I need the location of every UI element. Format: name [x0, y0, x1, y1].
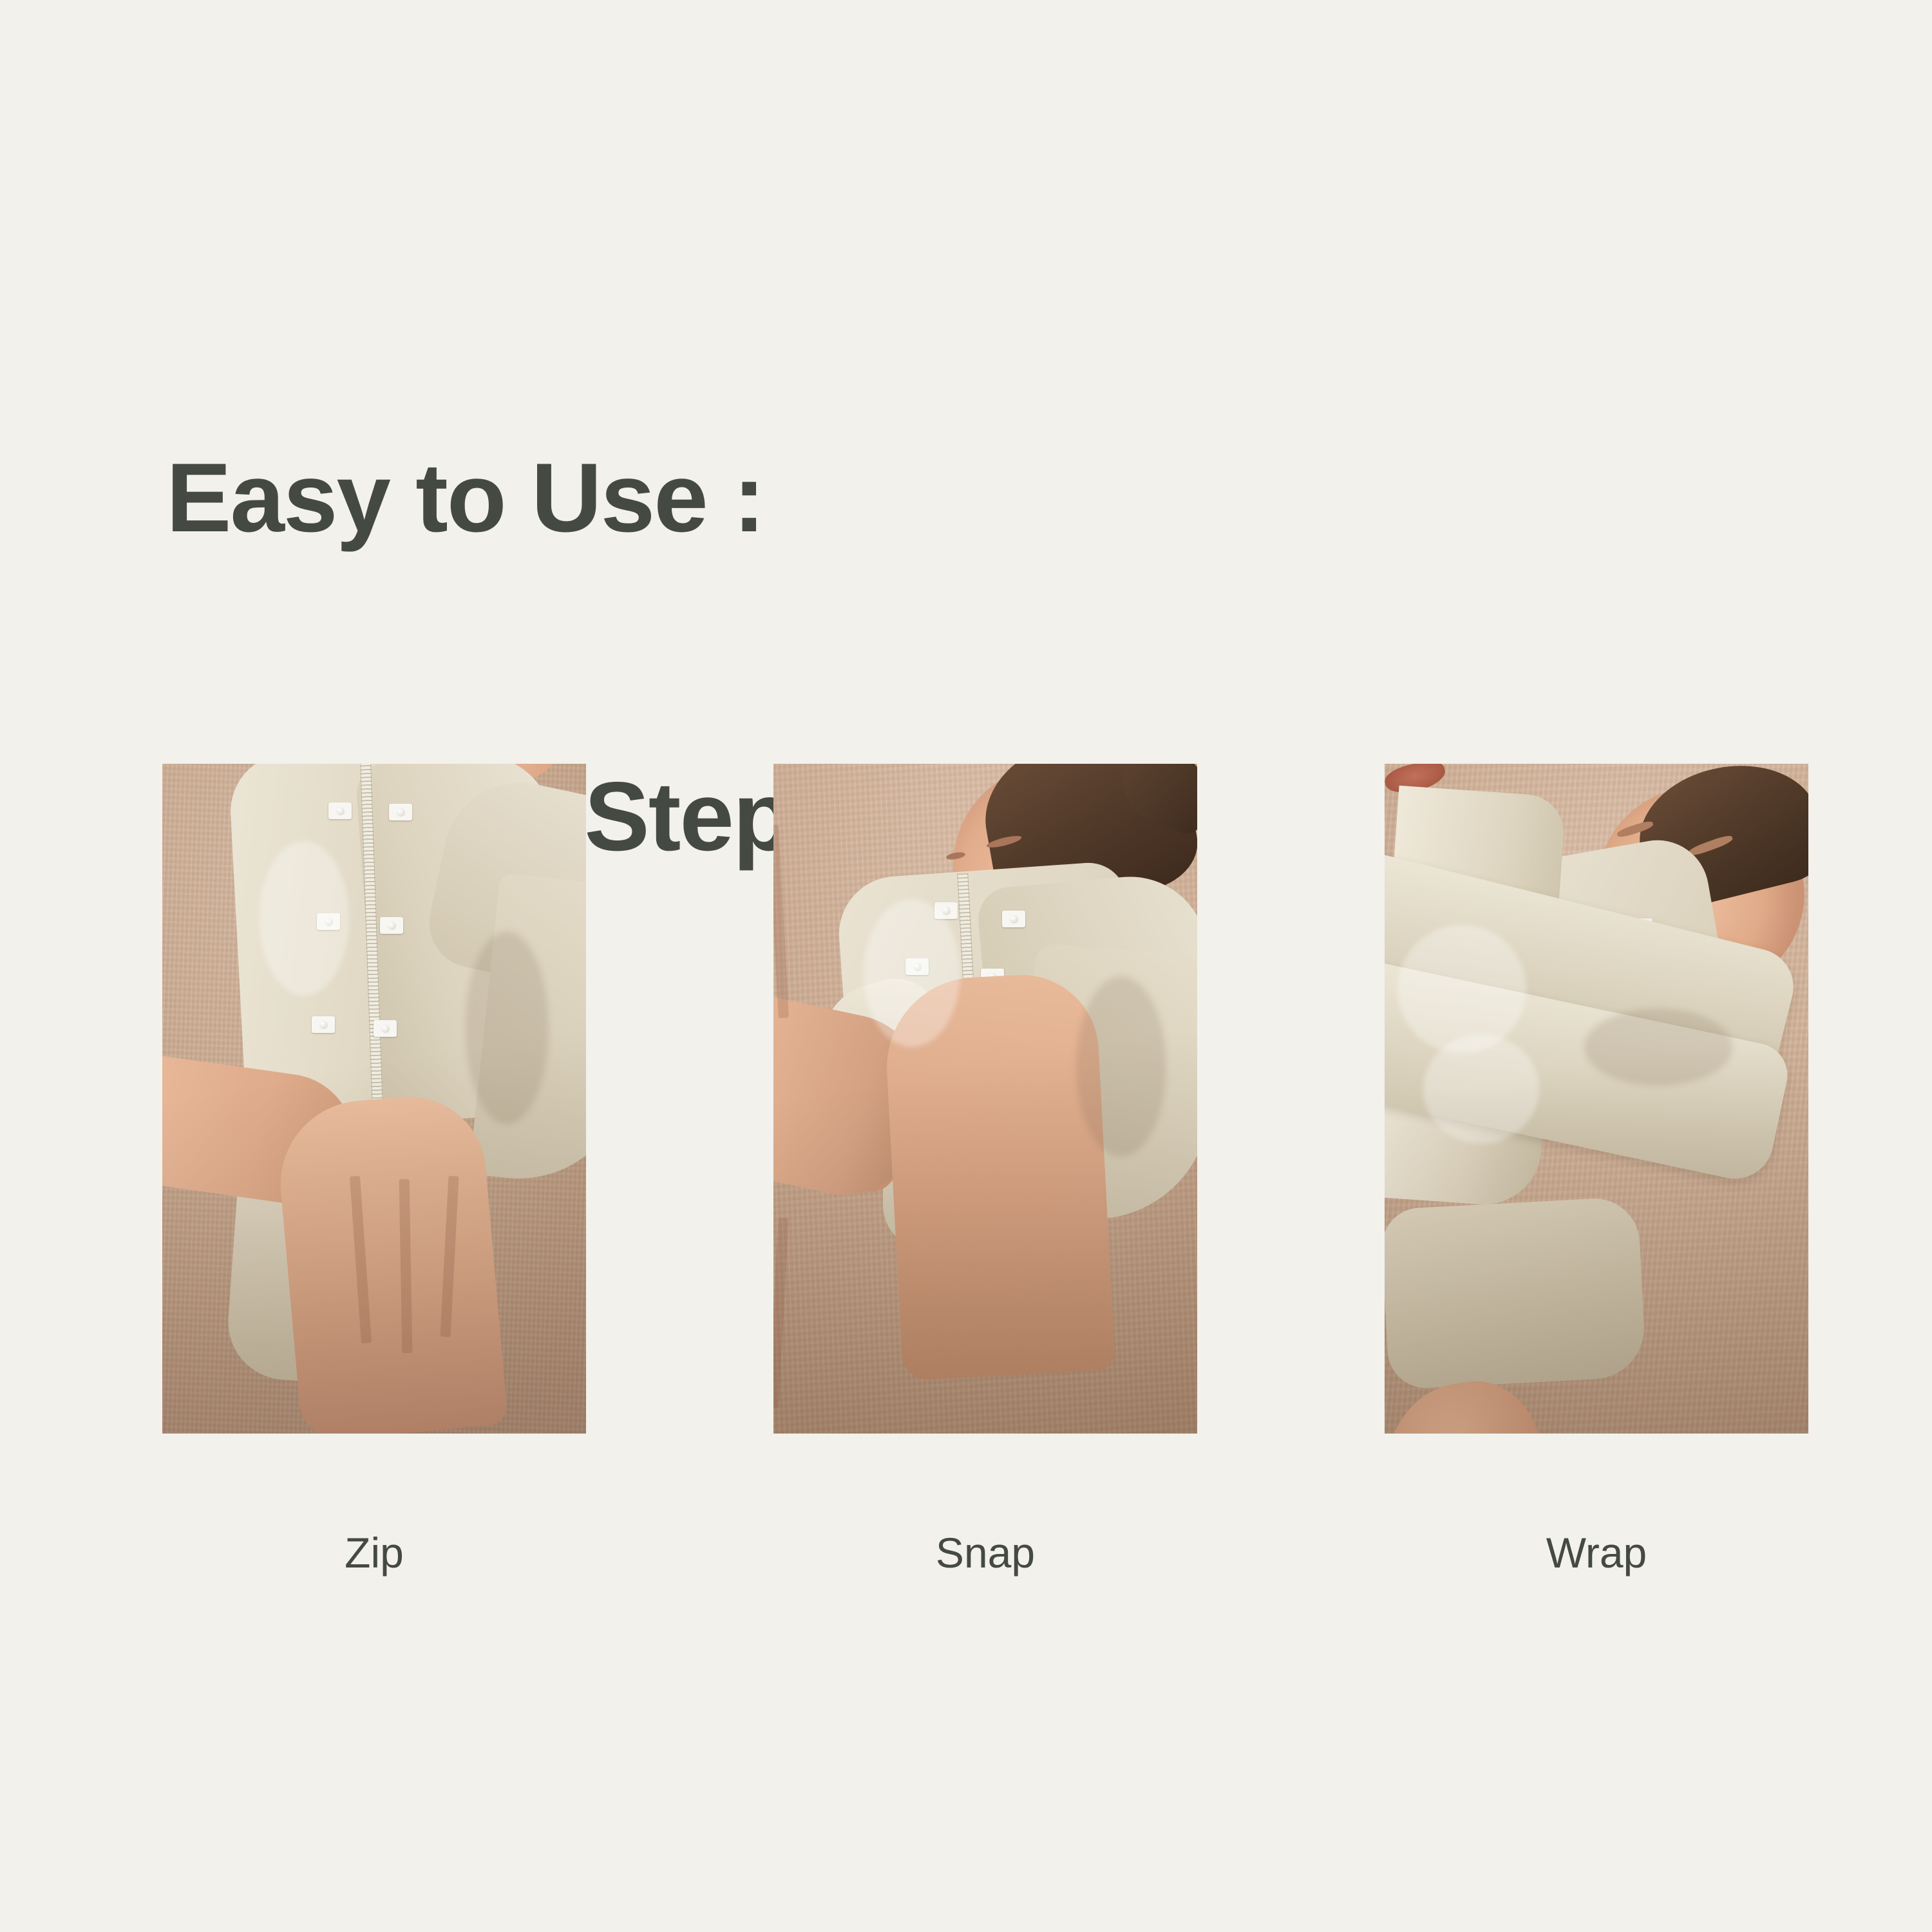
step-card-zip: Zip: [162, 764, 586, 1595]
step-caption-snap: Snap: [773, 1531, 1197, 1574]
photo-vignette: [162, 764, 586, 1434]
step-card-snap: Snap: [773, 764, 1197, 1595]
step-caption-wrap: Wrap: [1385, 1531, 1808, 1574]
steps-row: Zip: [162, 764, 1808, 1595]
step-photo-snap: [773, 764, 1197, 1434]
step-photo-zip: [162, 764, 586, 1434]
step-photo-wrap: [1385, 764, 1808, 1434]
title-line-1: Easy to Use :: [166, 448, 844, 548]
photo-vignette: [773, 764, 1197, 1434]
photo-vignette: [1385, 764, 1808, 1434]
step-caption-zip: Zip: [162, 1531, 586, 1574]
step-card-wrap: Wrap: [1385, 764, 1808, 1595]
promo-canvas: Easy to Use : 3 Simple Steps: [0, 0, 1932, 1932]
